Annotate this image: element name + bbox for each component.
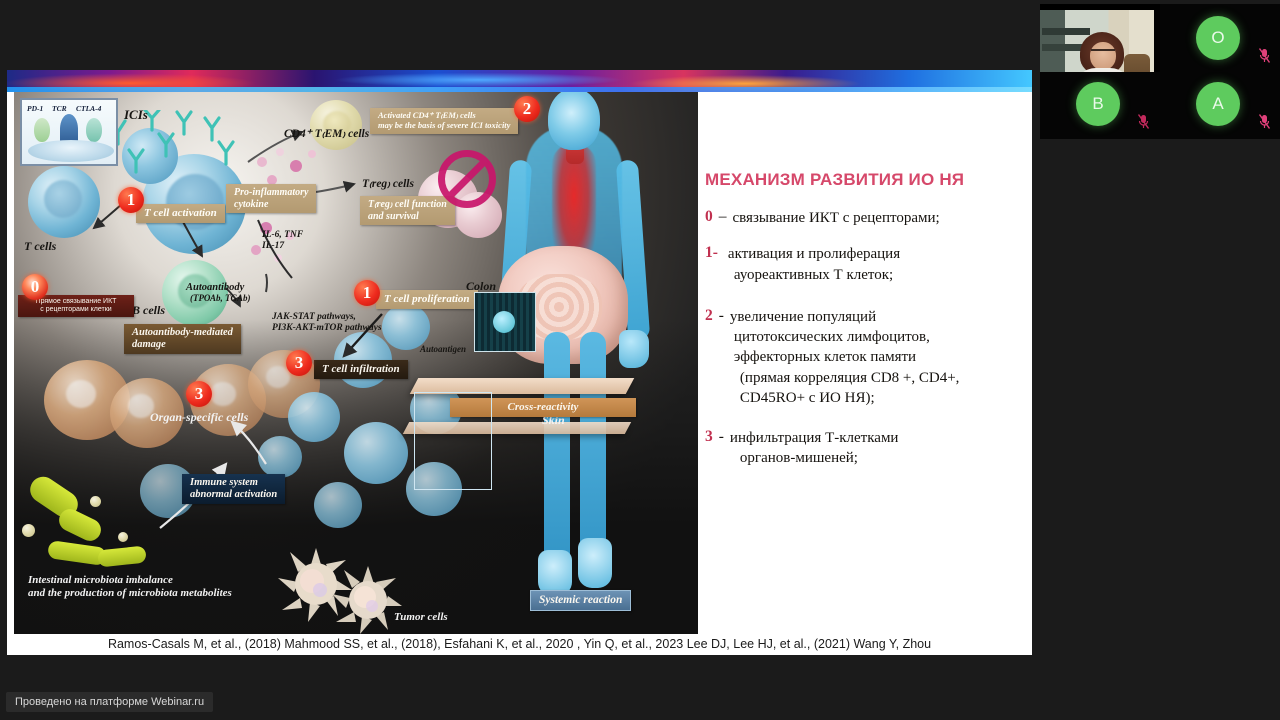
label-autoantigen: Autoantigen xyxy=(420,344,466,354)
camera-shelf xyxy=(1042,28,1090,35)
tag-pro-inflammatory-cytokine: Pro-inflammatory cytokine xyxy=(226,184,316,213)
item-text-1: активация и пролиферация ауореактивных Т… xyxy=(728,244,900,285)
video-conference-panel[interactable]: O B xyxy=(1040,4,1280,139)
screen: PD-1 TCR CTLA-4 T cells ICIs xyxy=(0,0,1280,720)
participant-face xyxy=(1090,42,1116,70)
video-tile-camera[interactable] xyxy=(1040,10,1154,72)
item-text-0: связывание ИКТ с рецепторами; xyxy=(733,208,940,228)
item-text-3: инфильтрация Т-клетками органов-мишеней; xyxy=(730,428,899,469)
tag-t-cell-infiltration: T cell infiltration xyxy=(314,360,408,379)
mechanism-diagram: PD-1 TCR CTLA-4 T cells ICIs xyxy=(14,92,698,634)
label-pathways-1: JAK-STAT pathways, xyxy=(272,312,356,323)
selection-rectangle xyxy=(414,392,492,490)
label-il6-tnf: IL-6, TNF xyxy=(262,230,303,241)
receptor-ctla4-icon xyxy=(86,118,102,142)
item-line-2-4: (прямая корреляция CD8 +, CD4+, CD45RO+ … xyxy=(730,368,1025,409)
right-text-column: МЕХАНИЗМ РАЗВИТИЯ ИО НЯ 0 – связывание И… xyxy=(705,170,1025,485)
step-badge-3-organ: 3 xyxy=(186,381,212,407)
inhibition-no-sign-icon xyxy=(438,150,496,208)
mechanism-item-2: 2 - увеличение популяций цитотоксических… xyxy=(705,307,1025,408)
step-badge-3-right: 3 xyxy=(286,350,312,376)
slide-top-gradient-bar xyxy=(7,70,1032,92)
tag-pro-inflammatory-text: Pro-inflammatory cytokine xyxy=(234,187,308,210)
item-line-2-1: увеличение популяций xyxy=(730,307,1025,327)
item-line-0-1: связывание ИКТ с рецепторами; xyxy=(733,208,940,228)
item-dash-0: – xyxy=(719,208,727,228)
platform-watermark: Проведено на платформе Webinar.ru xyxy=(6,692,213,712)
item-dash-3: - xyxy=(719,428,724,469)
participant-glasses xyxy=(1091,49,1115,55)
mic-muted-icon-b xyxy=(1138,114,1147,127)
label-microbiota-1: Intestinal microbiota imbalance xyxy=(28,574,173,586)
item-line-3-2: органов-мишеней; xyxy=(730,448,899,468)
label-tumor-cells: Tumor cells xyxy=(394,611,448,623)
inset-membrane xyxy=(28,140,114,162)
video-tile-b[interactable]: B xyxy=(1040,72,1160,139)
label-il17: IL-17 xyxy=(262,241,284,252)
tag-t-cell-activation: T cell activation xyxy=(136,204,225,223)
mechanism-item-1: 1- активация и пролиферация ауореактивны… xyxy=(705,244,1025,285)
autoantigen-inset xyxy=(474,292,536,352)
item-line-1-2: ауореактивных Т клеток; xyxy=(728,265,900,285)
tag-direct-binding-text: Прямое связывание ИКТ с рецепторами клет… xyxy=(36,298,117,313)
label-pathways-2: PI3K-AKT-mTOR pathways xyxy=(272,323,382,334)
label-t-cells: T cells xyxy=(24,240,56,253)
tag-treg-function: T₍reg₎ cell function and survival xyxy=(360,196,455,225)
tag-autoantibody-damage: Autoantibody-mediated damage xyxy=(124,324,241,354)
label-cd4-tem-cells: CD4⁺ T₍EM₎ cells xyxy=(284,128,369,141)
label-autoantibody: Autoantibody xyxy=(186,282,244,294)
label-organ-specific-cells: Organ-specific cells xyxy=(150,411,248,424)
video-tile-a[interactable]: A xyxy=(1160,72,1280,139)
receptor-inset-box: PD-1 TCR CTLA-4 xyxy=(20,98,118,166)
tag-t-cell-proliferation: T cell proliferation xyxy=(376,290,478,309)
item-line-2-3: эффекторных клеток памяти xyxy=(730,347,1025,367)
step-badge-2-cd4: 2 xyxy=(514,96,540,122)
label-autoantibody-sub: (ТРОАb, TGAb) xyxy=(190,293,250,303)
receptor-pd1-icon xyxy=(34,118,50,142)
tag-immune-abnormal-activation: Immune system abnormal activation xyxy=(182,474,285,504)
citation-line-1: Ramos-Casals M, et al., (2018) Mahmood S… xyxy=(7,636,1032,653)
video-tile-o[interactable]: O xyxy=(1160,4,1280,72)
item-line-3-1: инфильтрация Т-клетками xyxy=(730,428,899,448)
tag-activated-cd4: Activated CD4⁺ T₍EM₎ cells may be the ba… xyxy=(370,108,518,134)
step-badge-0-binding: 0 xyxy=(22,274,48,300)
label-microbiota-2: and the production of microbiota metabol… xyxy=(28,587,232,599)
step-badge-1-proliferation: 1 xyxy=(354,280,380,306)
avatar-o: O xyxy=(1196,16,1240,60)
mechanism-item-3: 3 - инфильтрация Т-клетками органов-мише… xyxy=(705,428,1025,469)
item-number-2: 2 xyxy=(705,307,713,408)
item-number-3: 3 xyxy=(705,428,713,469)
inset-label-ctla4: CTLA-4 xyxy=(76,104,101,113)
step-badge-1-activation: 1 xyxy=(118,187,144,213)
label-b-cells: B cells xyxy=(132,304,165,317)
mic-muted-icon-o xyxy=(1259,48,1268,61)
item-number-0: 0 xyxy=(705,208,713,228)
inset-label-tcr: TCR xyxy=(52,104,67,113)
item-text-2: увеличение популяций цитотоксических лим… xyxy=(730,307,1025,408)
item-dash-2: - xyxy=(719,307,724,408)
citation-block: Ramos-Casals M, et al., (2018) Mahmood S… xyxy=(7,636,1032,655)
tag-activated-cd4-text: Activated CD4⁺ T₍EM₎ cells may be the ba… xyxy=(378,110,510,130)
mechanism-title: МЕХАНИЗМ РАЗВИТИЯ ИО НЯ xyxy=(705,170,1025,190)
item-number-1: 1- xyxy=(705,244,718,285)
tag-treg-function-text: T₍reg₎ cell function and survival xyxy=(368,199,447,222)
mic-muted-icon-a xyxy=(1259,114,1268,127)
presentation-slide[interactable]: PD-1 TCR CTLA-4 T cells ICIs xyxy=(7,70,1032,655)
label-icis: ICIs xyxy=(124,108,148,123)
label-treg-cells: T₍reg₎ cells xyxy=(362,178,414,191)
inset-label-pd1: PD-1 xyxy=(27,104,43,113)
mechanism-item-0: 0 – связывание ИКТ с рецепторами; xyxy=(705,208,1025,228)
item-line-2-2: цитотоксических лимфоцитов, xyxy=(730,327,1025,347)
avatar-b: B xyxy=(1076,82,1120,126)
tag-autoantibody-damage-text: Autoantibody-mediated damage xyxy=(132,327,233,350)
tag-immune-abnormal-text: Immune system abnormal activation xyxy=(190,477,277,500)
camera-chair xyxy=(1124,54,1150,72)
item-line-1-1: активация и пролиферация xyxy=(728,244,900,264)
citation-line-2: S, et al., (2019) Johnson DB, et al., (2… xyxy=(7,653,1032,655)
tag-systemic-reaction: Systemic reaction xyxy=(530,590,631,611)
avatar-a: A xyxy=(1196,82,1240,126)
